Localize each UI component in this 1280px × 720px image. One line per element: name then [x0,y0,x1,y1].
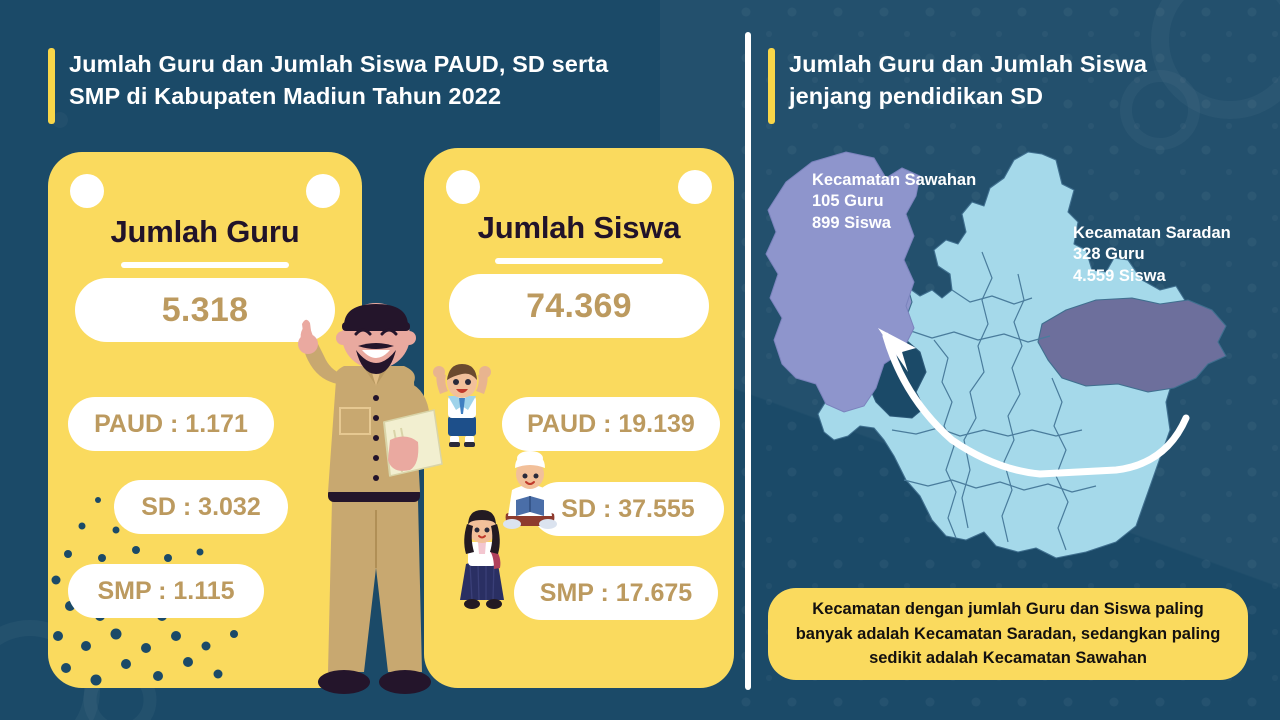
card-title-siswa: Jumlah Siswa [424,210,734,246]
map-label-sawahan-teachers: 105 Guru [812,191,976,212]
student-boy-illustration [426,358,498,448]
left-panel-heading: Jumlah Guru dan Jumlah Siswa PAUD, SD se… [48,48,608,124]
card-punch-hole-left [446,170,480,204]
map-label-saradan-students: 4.559 Siswa [1073,266,1231,287]
map-label-sawahan-name: Kecamatan Sawahan [812,170,976,191]
heading-accent-bar [48,48,55,124]
card-punch-hole-left [70,174,104,208]
summary-note: Kecamatan dengan jumlah Guru dan Siswa p… [768,588,1248,680]
right-panel-heading: Jumlah Guru dan Jumlah Siswa jenjang pen… [768,48,1147,124]
map-label-saradan-name: Kecamatan Saradan [1073,223,1231,244]
siswa-paud-pill: PAUD : 19.139 [502,397,720,451]
card-punch-hole-right [306,174,340,208]
guru-smp-pill: SMP : 1.115 [68,564,264,618]
heading-accent-bar [768,48,775,124]
guru-sd-pill: SD : 3.032 [114,480,288,534]
map-label-saradan-teachers: 328 Guru [1073,244,1231,265]
siswa-smp-pill: SMP : 17.675 [514,566,718,620]
card-title-underline [121,262,289,268]
card-punch-hole-right [678,170,712,204]
total-siswa-value: 74.369 [449,274,709,338]
map-label-saradan: Kecamatan Saradan 328 Guru 4.559 Siswa [1073,223,1231,287]
map-region-saradan [1038,298,1226,392]
card-title-guru: Jumlah Guru [48,214,362,250]
map-label-sawahan: Kecamatan Sawahan 105 Guru 899 Siswa [812,170,976,234]
left-heading-text: Jumlah Guru dan Jumlah Siswa PAUD, SD se… [69,48,608,124]
card-title-underline [495,258,663,264]
panel-divider [745,32,751,690]
student-girl-illustration [450,508,514,612]
right-heading-text: Jumlah Guru dan Jumlah Siswa jenjang pen… [789,48,1147,124]
guru-paud-pill: PAUD : 1.171 [68,397,274,451]
map-label-sawahan-students: 899 Siswa [812,213,976,234]
